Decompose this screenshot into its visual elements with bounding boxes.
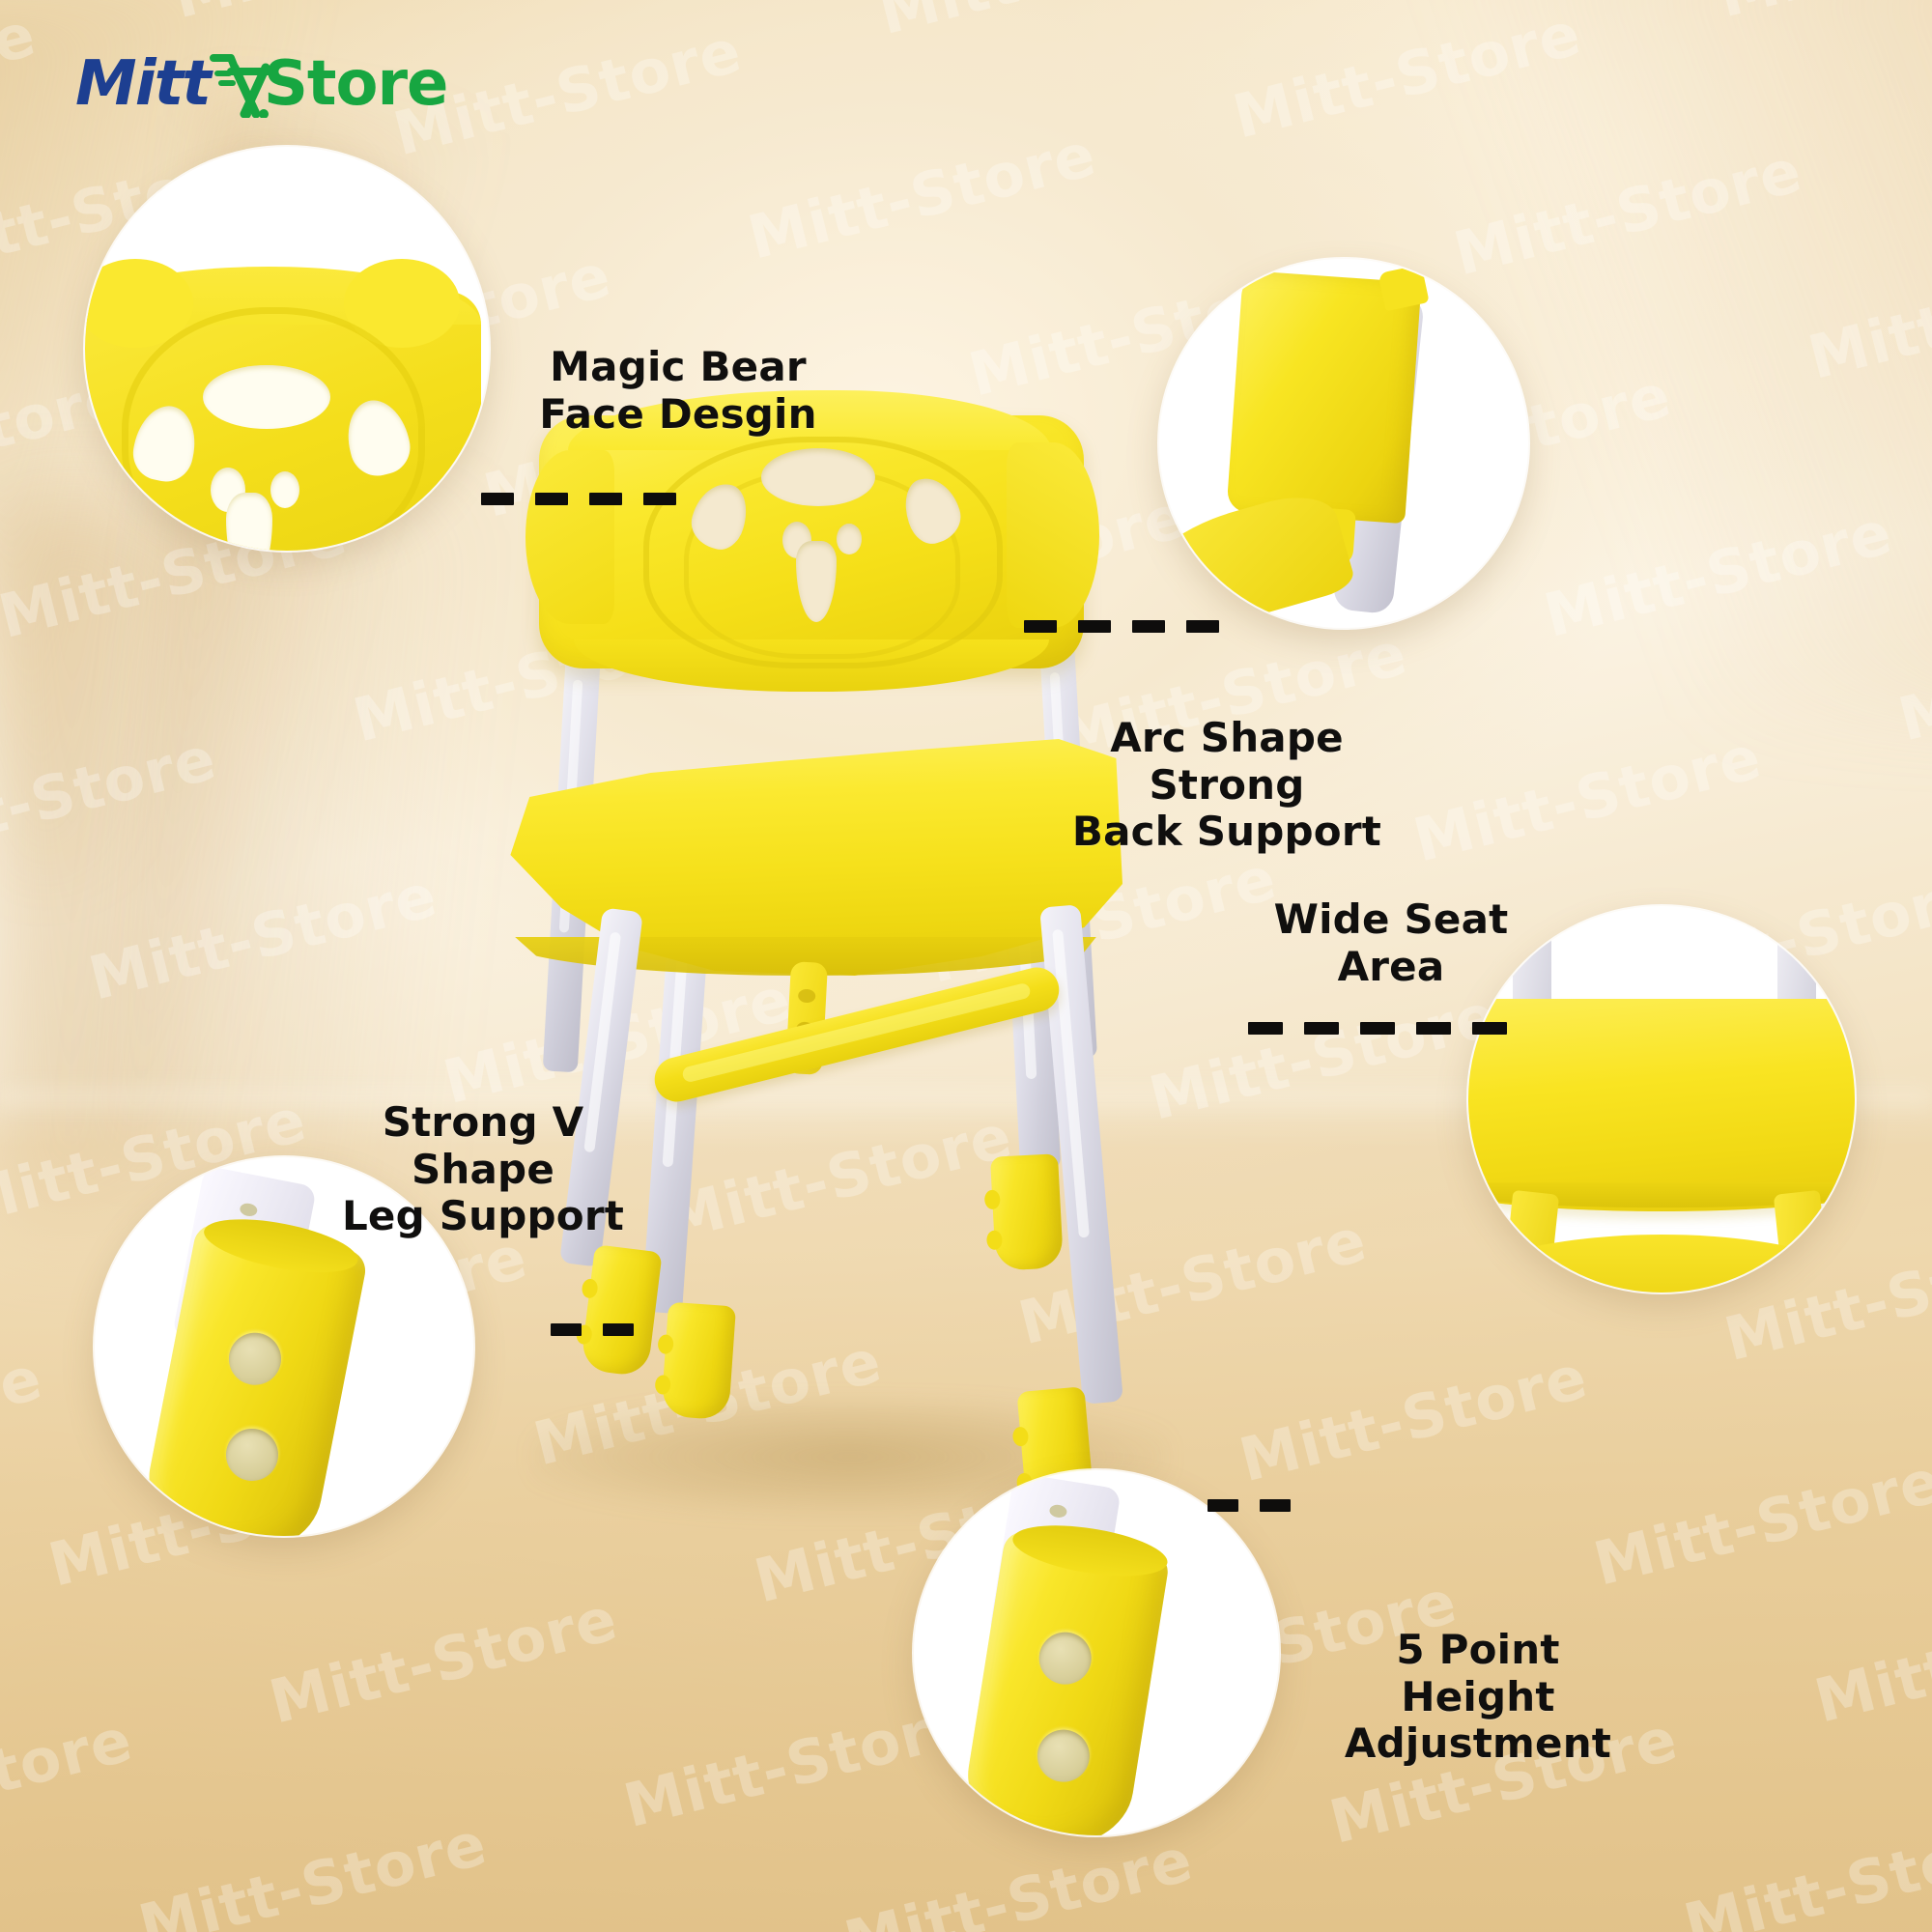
bear-face-detail-photo [85,147,489,551]
backrest-panel [539,415,1084,668]
bear-nostril-right-cutout [837,524,862,554]
connector-leg-support [551,1323,634,1336]
leg-adjust-hole [224,1328,285,1389]
feature-label-line1: Magic Bear [533,344,823,391]
feature-label-v-shape-leg-support: Strong V Shape Leg Support [328,1099,638,1240]
height-adjust-sleeve-back-left [661,1302,736,1421]
feature-label-line1: Wide Seat [1265,896,1517,944]
brand-name-secondary: Store [264,53,448,115]
bear-face-zoom-panel [85,292,481,551]
leg-adjust-sleeve [958,1529,1171,1835]
leg-adjust-hole [221,1424,282,1485]
feature-label-wide-seat-area: Wide Seat Area [1265,896,1517,990]
wide-seat-detail-photo [1468,906,1855,1293]
leg-adjust-hole [1034,1726,1094,1786]
feature-label-height-adjustment: 5 Point Height Adjustment [1323,1627,1633,1768]
callout-bear-face-detail [85,147,489,551]
connector-height-adjust [1207,1499,1291,1512]
connector-bear-face [481,493,676,505]
arc-back-detail-photo [1159,259,1528,628]
feature-label-magic-bear-face: Magic Bear Face Desgin [533,344,823,438]
feature-label-line2: Face Desgin [533,391,823,439]
bear-mouth-cutout [761,448,875,506]
connector-arc-back [1024,620,1219,633]
brand-logo: Mitt Store [75,46,447,122]
callout-arc-back-detail [1159,259,1528,628]
height-adjust-sleeve-back-right [990,1153,1064,1271]
leg-adjust-hole [1036,1629,1095,1689]
bear-mouth-cutout-zoom [203,365,330,429]
feature-label-arc-back-support: Arc Shape Strong Back Support [1053,715,1401,856]
callout-wide-seat-detail [1468,906,1855,1293]
seat-surface-zoom [1468,999,1855,1211]
feature-label-line1: 5 Point Height [1323,1627,1633,1720]
bear-nostril-right-cutout-zoom [270,471,299,508]
infographic-canvas: Mitt-StoreMitt-StoreMitt-StoreMitt-Store… [0,0,1932,1932]
brand-name-primary: Mitt [75,53,210,115]
height-adjust-detail-photo [914,1470,1279,1835]
feature-label-line2: Leg Support [328,1193,638,1240]
shopping-cart-icon [206,50,275,118]
leg-adjust-sleeve [137,1221,369,1536]
crossbar-support [650,963,1064,1107]
connector-wide-seat [1248,1022,1507,1035]
arc-back-support-lip [1378,265,1429,312]
feature-label-line1: Strong V Shape [328,1099,638,1193]
feature-label-line2: Adjustment [1323,1720,1633,1768]
feature-label-line2: Area [1265,944,1517,991]
leg-pin-hole [1049,1504,1068,1520]
feature-label-line2: Back Support [1053,809,1401,856]
feature-label-line1: Arc Shape Strong [1053,715,1401,809]
leg-pin-hole [239,1202,258,1217]
arc-back-support-lower-tab [1159,485,1357,628]
bear-chin-cutout-zoom [226,493,272,551]
height-adjust-sleeve-front-left [580,1244,662,1378]
callout-height-adjust-detail [914,1470,1279,1835]
